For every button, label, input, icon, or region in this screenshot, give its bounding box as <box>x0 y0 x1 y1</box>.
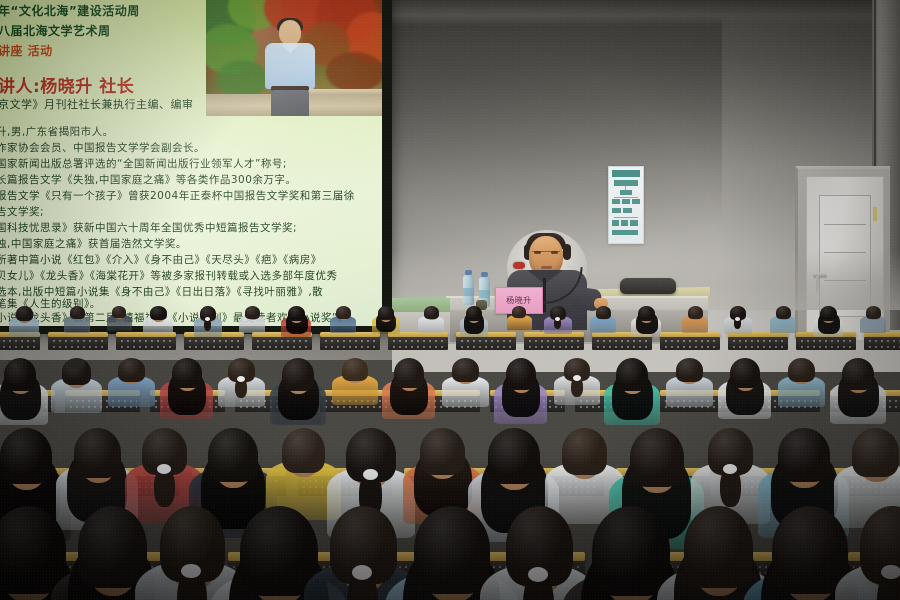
audience-member <box>394 358 447 427</box>
poster-node <box>623 208 632 213</box>
slide-body-line: 升,男,广东省揭阳市人。 <box>0 124 114 139</box>
audience-member-hair-cap <box>688 306 703 319</box>
hair-tie-icon <box>205 317 210 321</box>
desk-mesh-panel <box>867 338 900 348</box>
audience-member <box>676 358 723 413</box>
audience-member <box>596 306 622 336</box>
projection-screen-frame: 年“文化北海”建设活动周 八届北海文学艺术周 讲座 活动 讲人:杨晓升 社长 京… <box>0 0 392 334</box>
audience-row <box>0 506 900 600</box>
audience-member-hair-cap <box>684 506 753 588</box>
lecturer-eye-left <box>534 251 541 254</box>
audience-member-hair-cap <box>866 306 881 319</box>
audience-member-hair-cap <box>336 306 351 319</box>
bottle-cap <box>481 272 488 277</box>
audience-member <box>228 358 275 413</box>
slide-body-line: 国科技忧思录》获新中国六十周年全国优秀中短篇报告文学奖; <box>0 220 297 235</box>
lecturer-eye-right <box>551 251 558 254</box>
poster-node <box>632 199 640 204</box>
audience-member-hair-cap <box>118 358 145 382</box>
slide-title-line-2: 八届北海文学艺术周 <box>0 22 111 39</box>
audience-member-hair-cap <box>452 358 479 382</box>
slide-text-layer: 年“文化北海”建设活动周 八届北海文学艺术周 讲座 活动 讲人:杨晓升 社长 京… <box>0 0 382 326</box>
audience-member-hair-cap <box>424 306 439 319</box>
audience-member-hair-cap <box>776 306 791 319</box>
poster-connector <box>614 217 638 218</box>
audience-member-hair-cap <box>616 358 648 391</box>
hair-tie-icon <box>157 464 171 474</box>
audience-member <box>638 306 668 341</box>
poster-node <box>621 220 628 226</box>
audience-member <box>16 306 46 341</box>
audience-member-hair-cap <box>112 306 126 318</box>
audience-member-hair-cap <box>630 428 684 487</box>
slide-speaker-heading: 讲人:杨晓升 社长 <box>0 72 134 97</box>
poster-node <box>612 199 620 204</box>
audience-member <box>842 358 898 432</box>
audience-member <box>860 506 900 600</box>
hair-tie-icon <box>352 565 372 580</box>
audience-member <box>112 306 137 334</box>
audience-member-hair-cap <box>78 506 147 588</box>
audience-member <box>866 306 892 336</box>
ceiling-band <box>392 0 900 26</box>
hair-tie-icon <box>555 317 560 321</box>
audience-member <box>245 306 271 336</box>
audience-member <box>150 306 180 338</box>
bottle-label <box>479 290 490 298</box>
audience-member <box>424 306 450 336</box>
audience-member-hair-cap <box>394 358 424 388</box>
hair-tie-icon <box>573 375 581 381</box>
audience-area <box>0 300 900 600</box>
bottle-cap <box>465 270 472 275</box>
audience-member-hair-cap <box>150 306 167 320</box>
slide-speaker-subheading: 京文学》月刊社社长兼执行主编、编审 <box>0 96 194 112</box>
slide-body-line: 告文学奖; <box>0 204 44 219</box>
hair-tie-icon <box>181 564 201 578</box>
audience-member <box>550 306 578 338</box>
hair-tie-icon <box>237 376 245 382</box>
audience-member-hair-cap <box>772 506 848 594</box>
audience-member-hair-cap <box>0 506 66 594</box>
audience-member <box>616 358 672 434</box>
audience-member-hair-cap <box>208 428 258 482</box>
desk-mesh-panel <box>119 338 175 348</box>
poster-node <box>614 180 638 186</box>
poster-node <box>620 190 632 195</box>
slide-body-line: 长篇报告文学《失独,中国家庭之痛》等各类作品300余万字。 <box>0 172 296 187</box>
desk-mesh-panel <box>663 338 719 348</box>
audience-member-hair-cap <box>852 428 899 477</box>
slide-body-line: 独,中国家庭之痛》获首届浩然文学奖。 <box>0 236 187 251</box>
audience-member-hair-cap <box>778 428 830 482</box>
desk-mesh-panel <box>51 338 107 348</box>
audience-member-hair-cap <box>596 306 611 319</box>
slide-body-line: 作家协会会员、中国报告文学学会副会长。 <box>0 140 205 155</box>
audience-member-hair-cap <box>342 358 368 381</box>
desk-mesh-panel <box>527 338 583 348</box>
desk-mesh-panel <box>323 338 379 348</box>
audience-member <box>730 358 783 427</box>
audience-member-hair-cap <box>562 428 607 475</box>
poster-node <box>622 199 630 204</box>
audience-member-hair-cap <box>676 358 703 382</box>
audience-member-hair-cap <box>16 306 33 321</box>
microphone-head-icon <box>513 262 525 269</box>
audience-member-hair-cap <box>0 428 52 484</box>
audience-member-hair-cap <box>245 306 260 319</box>
audience-member-hair-cap <box>592 506 670 596</box>
audience-member-hair-cap <box>282 428 325 473</box>
desk-mesh-panel <box>391 338 447 348</box>
audience-member <box>730 306 758 338</box>
laptop-bag <box>620 278 676 294</box>
audience-member-hair-cap <box>4 358 36 391</box>
poster-node <box>612 208 621 213</box>
hair-tie-icon <box>881 565 900 579</box>
audience-member <box>70 306 96 336</box>
slide-title-line-3: 讲座 活动 <box>0 42 53 59</box>
audience-member-hair-cap <box>74 428 121 478</box>
poster-header-band <box>612 170 640 177</box>
audience-member-hair-cap <box>842 358 874 390</box>
audience-member <box>62 358 113 420</box>
slide-body-line: 报告文学《只有一个孩子》曾获2004年正泰杯中国报告文学奖和第三届徐 <box>0 188 355 203</box>
audience-member-hair-cap <box>466 306 482 321</box>
slide-body-line: 国家新闻出版总署评选的“全国新闻出版行业领军人才”称号; <box>0 156 287 171</box>
audience-member <box>820 306 850 341</box>
poster-node <box>612 220 619 226</box>
lecturer-hair-right <box>563 244 571 260</box>
poster-node <box>612 230 638 235</box>
projected-slide: 年“文化北海”建设活动周 八届北海文学艺术周 讲座 活动 讲人:杨晓升 社长 京… <box>0 0 382 326</box>
audience-member-hair-cap <box>638 306 655 321</box>
audience-member <box>506 358 559 432</box>
audience-member <box>776 306 802 336</box>
lecture-hall-scene: 年“文化北海”建设活动周 八届北海文学艺术周 讲座 活动 讲人:杨晓升 社长 京… <box>0 0 900 600</box>
audience-member-hair-cap <box>420 428 465 475</box>
audience-member <box>788 358 835 413</box>
wall-chart-poster <box>608 166 644 244</box>
audience-member <box>200 306 228 341</box>
audience-member-hair-cap <box>414 506 490 594</box>
door-lock-plate <box>873 207 877 221</box>
audience-member-hair-cap <box>70 306 85 319</box>
audience-member-hair-cap <box>820 306 837 321</box>
audience-member <box>118 358 165 413</box>
bottle-label <box>463 288 474 296</box>
audience-member-hair-cap <box>506 358 536 390</box>
poster-connector <box>614 197 638 198</box>
poster-node <box>630 220 638 226</box>
audience-member <box>336 306 362 336</box>
audience-member-hair-cap <box>172 358 202 388</box>
audience-member-hair-cap <box>288 306 305 321</box>
desk-mesh-panel <box>731 338 787 348</box>
audience-member-hair-cap <box>488 428 540 484</box>
audience-member-hair-cap <box>512 306 526 318</box>
audience-member-hair-cap <box>788 358 815 382</box>
audience-member <box>452 358 499 413</box>
audience-member <box>288 306 318 341</box>
slide-body-line: 贝女儿》《龙头香》《海棠花开》等被多家报刊转载或入选多部年度优秀 <box>0 268 338 283</box>
audience-member <box>512 306 537 334</box>
audience-member <box>378 306 406 338</box>
audience-member <box>282 358 338 434</box>
hair-tie-icon <box>735 317 740 321</box>
audience-member-hair-cap <box>730 358 760 388</box>
hair-tie-icon <box>723 464 737 474</box>
audience-member <box>688 306 714 336</box>
audience-member-hair-cap <box>378 306 394 320</box>
slide-title-line-1: 年“文化北海”建设活动周 <box>0 2 140 19</box>
audience-member-hair-cap <box>282 358 314 391</box>
slide-body-line: 所著中篇小说《红包》《介入》《身不由己》《天尽头》《疤》《病房》 <box>0 252 322 267</box>
audience-member <box>466 306 494 341</box>
hair-tie-icon <box>528 567 548 582</box>
hair-tie-icon <box>363 469 378 480</box>
